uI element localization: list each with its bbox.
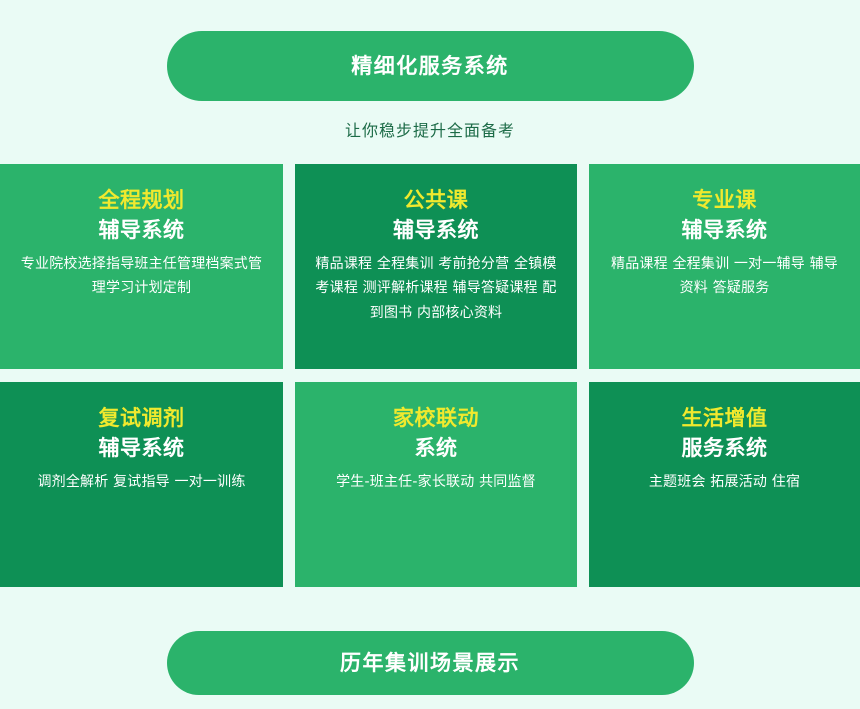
- footer-banner-container: 历年集训场景展示: [0, 631, 860, 695]
- footer-banner[interactable]: 历年集训场景展示: [167, 631, 694, 695]
- page-root: 精细化服务系统 让你稳步提升全面备考 全程规划 辅导系统 专业院校选择指导班主任…: [0, 0, 860, 709]
- service-card[interactable]: 全程规划 辅导系统 专业院校选择指导班主任管理档案式管理学习计划定制: [0, 164, 283, 369]
- service-card[interactable]: 专业课 辅导系统 精品课程 全程集训 一对一辅导 辅导资料 答疑服务: [589, 164, 860, 369]
- service-card-subtitle: 服务系统: [603, 434, 846, 462]
- service-card[interactable]: 家校联动 系统 学生-班主任-家长联动 共同监督: [295, 382, 577, 587]
- service-card-subtitle: 系统: [309, 434, 563, 462]
- service-card[interactable]: 生活增值 服务系统 主题班会 拓展活动 住宿: [589, 382, 860, 587]
- service-card-title: 复试调剂: [14, 404, 269, 432]
- service-card[interactable]: 公共课 辅导系统 精品课程 全程集训 考前抢分营 全镇模考课程 测评解析课程 辅…: [295, 164, 577, 369]
- service-card-grid: 全程规划 辅导系统 专业院校选择指导班主任管理档案式管理学习计划定制 公共课 辅…: [0, 164, 860, 587]
- footer-banner-label: 历年集训场景展示: [340, 653, 520, 674]
- service-card-title: 生活增值: [603, 404, 846, 432]
- service-card-subtitle: 辅导系统: [309, 216, 563, 244]
- service-card-title: 公共课: [309, 186, 563, 214]
- service-card-description: 主题班会 拓展活动 住宿: [603, 470, 846, 495]
- header-subtitle-container: 让你稳步提升全面备考: [0, 123, 860, 139]
- header-banner[interactable]: 精细化服务系统: [167, 31, 694, 101]
- service-card-description: 专业院校选择指导班主任管理档案式管理学习计划定制: [14, 252, 269, 301]
- service-card[interactable]: 复试调剂 辅导系统 调剂全解析 复试指导 一对一训练: [0, 382, 283, 587]
- header-banner-container: 精细化服务系统: [0, 0, 860, 101]
- service-card-title: 全程规划: [14, 186, 269, 214]
- service-card-description: 调剂全解析 复试指导 一对一训练: [14, 470, 269, 495]
- service-card-subtitle: 辅导系统: [14, 434, 269, 462]
- header-banner-label: 精细化服务系统: [351, 56, 509, 77]
- service-card-subtitle: 辅导系统: [14, 216, 269, 244]
- service-card-title: 专业课: [603, 186, 846, 214]
- header-subtitle: 让你稳步提升全面备考: [345, 123, 515, 139]
- service-card-title: 家校联动: [309, 404, 563, 432]
- service-card-description: 学生-班主任-家长联动 共同监督: [309, 470, 563, 495]
- service-card-description: 精品课程 全程集训 考前抢分营 全镇模考课程 测评解析课程 辅导答疑课程 配到图…: [309, 252, 563, 326]
- service-card-subtitle: 辅导系统: [603, 216, 846, 244]
- service-card-description: 精品课程 全程集训 一对一辅导 辅导资料 答疑服务: [603, 252, 846, 301]
